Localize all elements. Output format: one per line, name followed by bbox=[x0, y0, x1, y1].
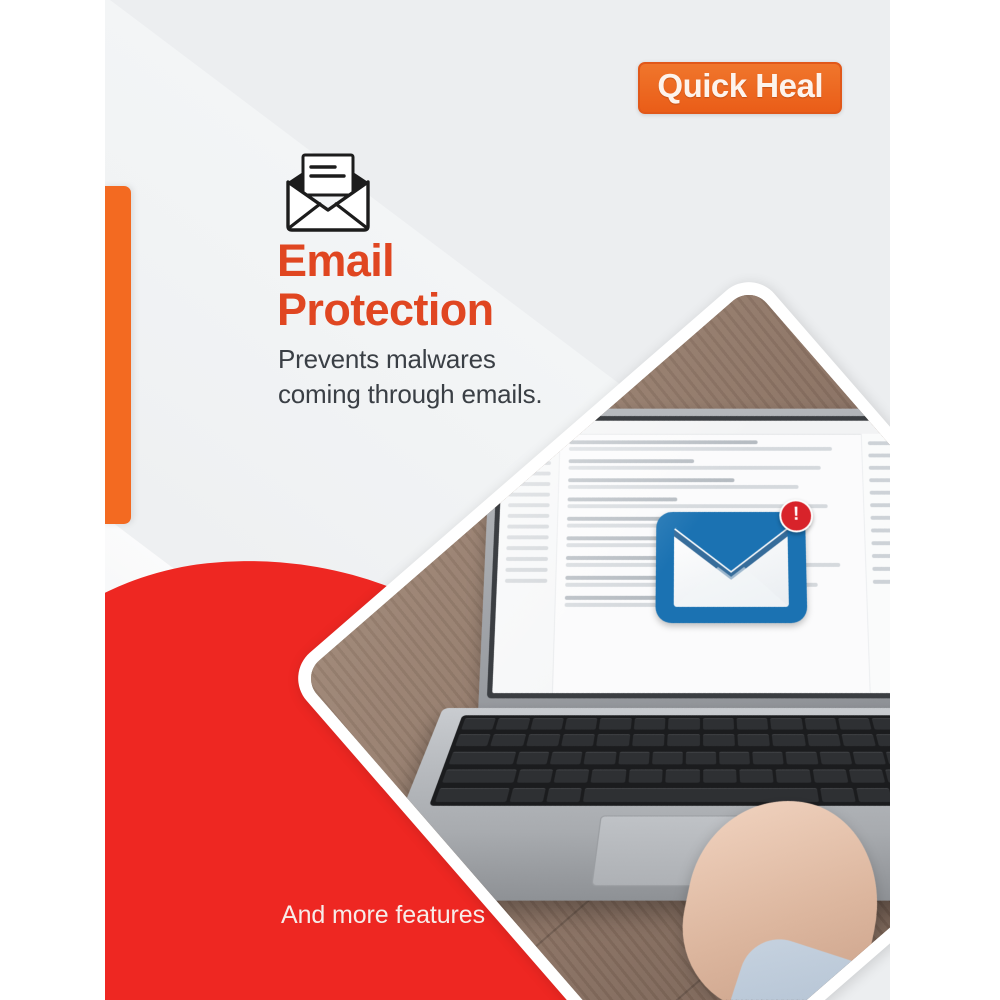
headline-line-2: Protection bbox=[277, 285, 697, 334]
quick-heal-logo[interactable]: Quick Heal bbox=[638, 62, 842, 114]
envelope-flap-icon bbox=[674, 528, 789, 607]
headline-line-1: Email bbox=[277, 236, 697, 285]
promo-banner: ! bbox=[0, 0, 1000, 1000]
laptop-screen: ! bbox=[492, 421, 890, 693]
app-dot-icon bbox=[509, 424, 515, 430]
blue-envelope-overlay: ! bbox=[655, 512, 807, 623]
more-features-label: And more features bbox=[281, 900, 485, 930]
open-envelope-icon bbox=[282, 152, 374, 232]
screen-bezel: ! bbox=[487, 416, 890, 698]
quick-heal-logo-text: Quick Heal bbox=[657, 69, 823, 104]
subtitle-line-2: coming through emails. bbox=[278, 377, 698, 412]
envelope-paper bbox=[674, 528, 789, 607]
content-card: ! bbox=[105, 0, 890, 1000]
laptop-keyboard bbox=[429, 715, 890, 806]
feature-subtitle: Prevents malwares coming through emails. bbox=[278, 342, 698, 412]
email-app-sidebar bbox=[492, 434, 560, 693]
orange-accent-bar bbox=[105, 186, 131, 524]
alert-badge: ! bbox=[779, 499, 813, 532]
email-app-toolbar bbox=[503, 421, 890, 435]
feature-headline: Email Protection bbox=[277, 236, 697, 334]
subtitle-line-1: Prevents malwares bbox=[278, 342, 698, 377]
laptop-lid: ! bbox=[478, 409, 890, 715]
